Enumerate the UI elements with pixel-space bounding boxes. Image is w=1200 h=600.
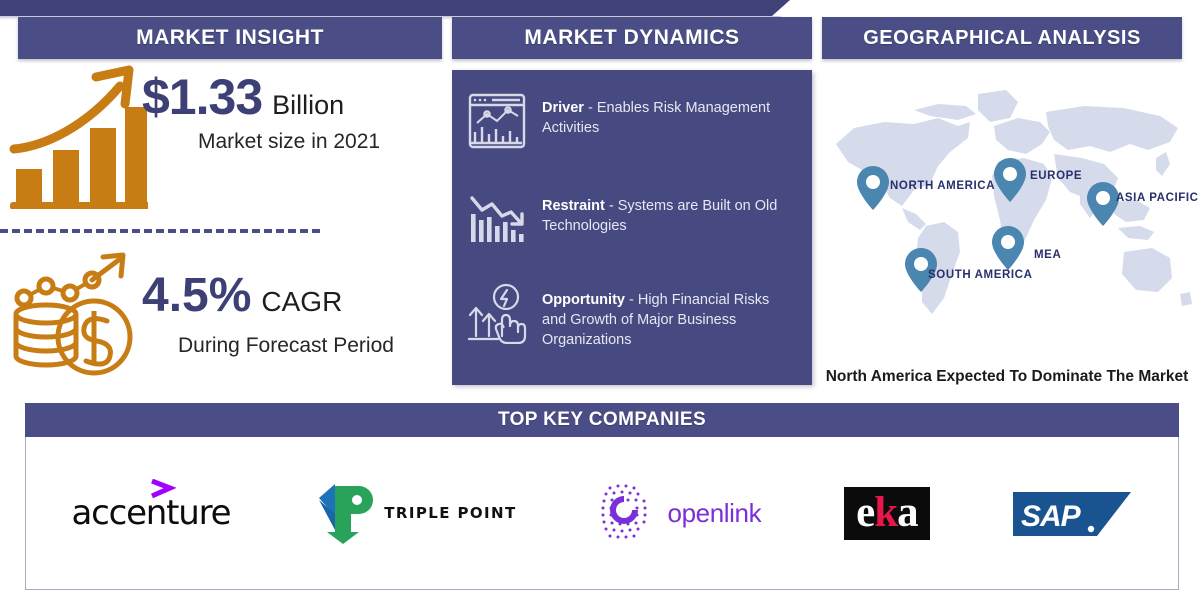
declining-bar-chart-icon [466,188,528,250]
company-logo-row: accenture TRIPLE POINT [30,443,1174,583]
company-logo-triple-point[interactable]: TRIPLE POINT [313,474,516,552]
market-size-value-row: $1.33Billion [142,72,344,122]
openlink-dot-mark-icon [600,480,656,546]
dynamics-item-driver: Driver - Enables Risk Management Activit… [466,90,794,152]
eka-wordmark: eka [856,489,918,536]
header-market-insight-label: MARKET INSIGHT [136,26,324,50]
market-size-caption: Market size in 2021 [198,130,380,154]
cagr-unit: CAGR [261,286,342,318]
header-market-dynamics-label: MARKET DYNAMICS [524,26,739,50]
header-geographical-analysis: GEOGRAPHICAL ANALYSIS [822,17,1182,59]
map-pin-mea[interactable] [992,226,1024,270]
header-top-key-companies: TOP KEY COMPANIES [25,403,1179,437]
map-pin-europe[interactable] [994,158,1026,202]
company-logo-accenture[interactable]: accenture [71,474,230,552]
market-size-block: $1.33Billion Market size in 2021 [0,62,442,212]
geo-label-mea: MEA [1034,249,1061,261]
geo-label-asia-pacific: ASIA PACIFIC [1116,192,1199,204]
hand-arrows-opportunity-icon [466,282,528,344]
bar-chart-growth-icon [8,64,148,209]
coins-growth-icon [8,252,148,382]
openlink-logo: openlink [600,480,762,546]
market-size-value: $1.33 [142,72,262,122]
accenture-wordmark: accenture [71,493,230,533]
dynamics-item-restraint-separator: - [605,198,618,214]
market-size-unit: Billion [272,90,344,121]
dynamics-item-driver-text: Driver - Enables Risk Management Activit… [542,90,794,138]
triple-point-mark-icon [313,480,375,546]
eka-logo: eka [844,487,930,540]
dynamics-item-driver-label: Driver [542,100,584,116]
eka-k-letter: k [874,489,897,536]
cagr-value-row: 4.5%CAGR [142,272,342,320]
map-pin-asia-pacific[interactable] [1087,182,1119,226]
insight-divider [0,229,320,233]
company-logo-eka[interactable]: eka [844,474,930,552]
header-market-insight: MARKET INSIGHT [18,17,442,59]
openlink-wordmark: openlink [668,498,762,529]
map-pin-north-america[interactable] [857,166,889,210]
company-logo-sap[interactable]: SAP [1013,474,1133,552]
accenture-chevron-icon [150,479,176,499]
geo-label-europe: EUROPE [1030,170,1082,182]
geo-label-north-america: NORTH AMERICA [890,180,995,192]
cagr-value: 4.5% [142,272,251,320]
dynamics-item-restraint-label: Restraint [542,198,605,214]
dynamics-item-opportunity: Opportunity - High Financial Risks and G… [466,282,794,350]
geo-label-south-america: SOUTH AMERICA [928,269,1032,281]
dynamics-item-restraint: Restraint - Systems are Built on Old Tec… [466,188,794,250]
header-geographical-analysis-label: GEOGRAPHICAL ANALYSIS [863,27,1141,50]
cagr-block: 4.5%CAGR During Forecast Period [0,246,442,391]
cagr-caption: During Forecast Period [178,334,394,358]
dynamics-item-restraint-text: Restraint - Systems are Built on Old Tec… [542,188,794,236]
dynamics-item-opportunity-text: Opportunity - High Financial Risks and G… [542,282,794,350]
geo-caption: North America Expected To Dominate The M… [814,368,1200,386]
market-dynamics-panel: Driver - Enables Risk Management Activit… [452,70,812,385]
geographical-map-wrap: NORTH AMERICA EUROPE ASIA PACIFIC MEA SO… [818,66,1200,366]
dynamics-item-opportunity-label: Opportunity [542,292,625,308]
dynamics-item-driver-separator: - [584,100,597,116]
company-logo-openlink[interactable]: openlink [600,474,762,552]
dynamics-item-opportunity-separator: - [625,292,638,308]
dashboard-analytics-icon [466,90,528,152]
svg-text:SAP: SAP [1021,500,1082,533]
accenture-logo: accenture [71,493,230,533]
triple-point-logo: TRIPLE POINT [313,480,516,546]
sap-mark-icon: SAP [1013,490,1133,538]
sap-logo: SAP [1013,490,1133,536]
infographic-root: MARKET INSIGHT MARKET DYNAMICS GEOGRAPHI… [0,0,1200,600]
header-top-key-companies-label: TOP KEY COMPANIES [498,409,706,431]
header-market-dynamics: MARKET DYNAMICS [452,17,812,59]
triple-point-wordmark: TRIPLE POINT [384,504,516,522]
top-banner-decoration [0,0,790,16]
